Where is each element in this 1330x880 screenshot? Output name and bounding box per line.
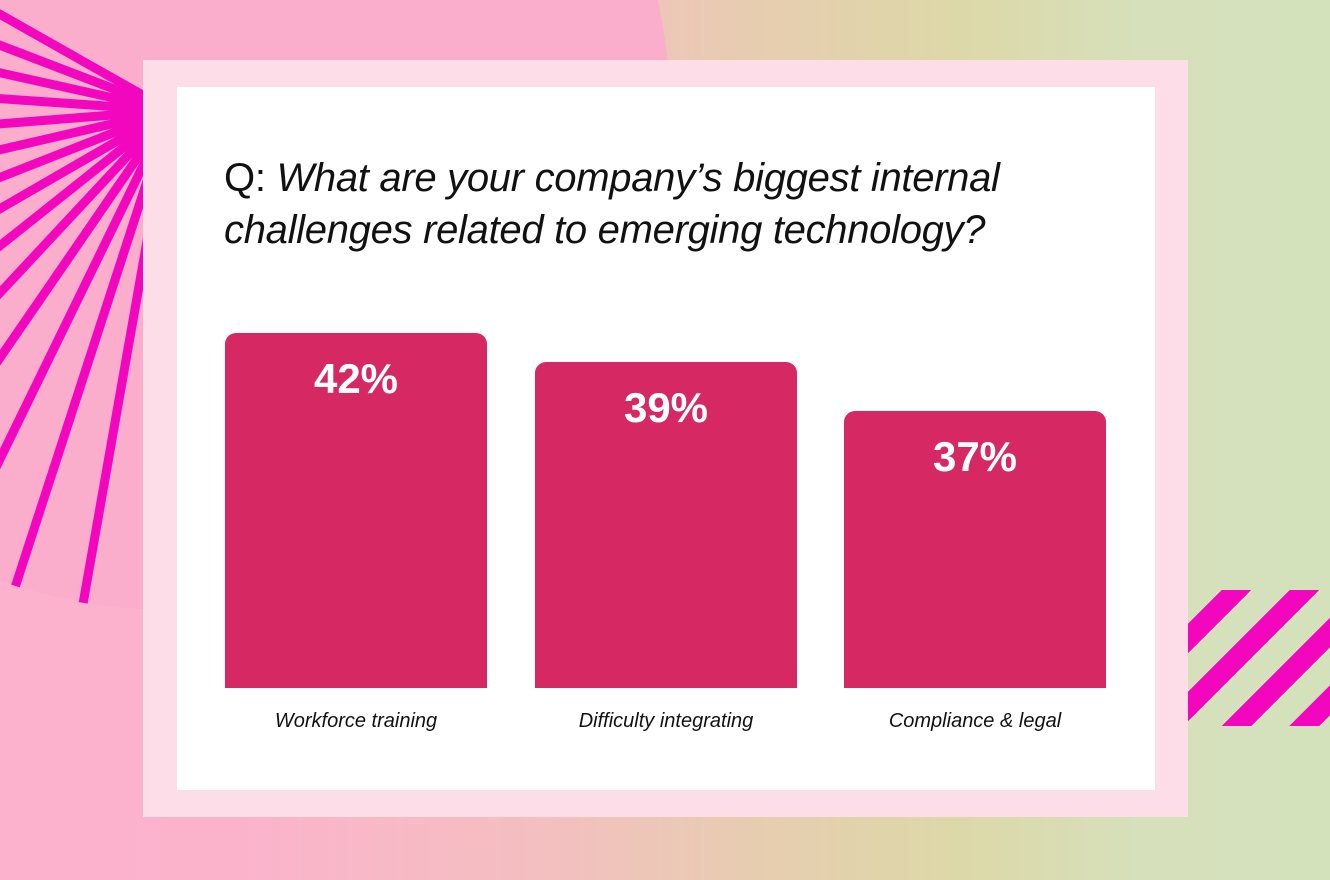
bar-category-label: Compliance & legal [844,710,1106,733]
chart-title-prefix: Q: [224,156,276,200]
bar: 39% Difficulty integrating [535,362,797,688]
bar: 37% Compliance & legal [844,411,1106,688]
bar-value-label: 37% [844,433,1106,481]
bar-category-label: Workforce training [225,710,487,733]
bar-chart: 42% Workforce training 39% Difficulty in… [177,300,1155,760]
slide-background: Q: What are your company’s biggest inter… [0,0,1330,880]
bar-value-label: 42% [225,355,487,403]
chart-title: Q: What are your company’s biggest inter… [224,152,1124,256]
bar-category-label: Difficulty integrating [535,710,797,733]
bar: 42% Workforce training [225,333,487,688]
bar-value-label: 39% [535,384,797,432]
diagonal-stripe-decoration [1187,590,1330,726]
chart-title-text: What are your company’s biggest internal… [224,156,1000,252]
